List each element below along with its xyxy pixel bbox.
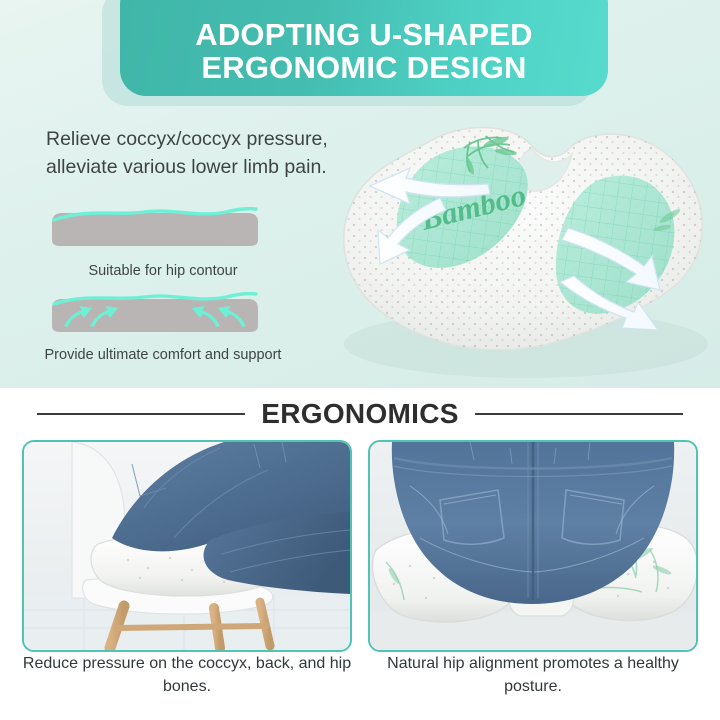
contour-diagram-2: Provide ultimate comfort and support [38, 282, 288, 366]
contour-diagram-1: Suitable for hip contour [38, 196, 288, 282]
cushion-cross-section-1 [48, 196, 262, 258]
product-cushion-image: Bamboo [318, 112, 720, 388]
photo-caption-right: Natural hip alignment promotes a healthy… [368, 652, 698, 698]
banner-title-line-1: ADOPTING U-SHAPED [195, 17, 533, 52]
divider-line-right [475, 413, 683, 415]
section-title: ERGONOMICS [261, 398, 458, 430]
photo-card-rear-view [368, 440, 698, 652]
top-section: ADOPTING U-SHAPED ERGONOMIC DESIGN Relie… [0, 0, 720, 388]
u-shaped-cushion-illustration: Bamboo [318, 112, 720, 388]
contour-diagram-2-caption: Provide ultimate comfort and support [38, 346, 288, 366]
photo-gallery [0, 440, 720, 660]
cushion-profile-icon [48, 196, 262, 258]
banner-title-line-2: ERGONOMIC DESIGN [195, 51, 533, 84]
section-header-ergonomics: ERGONOMICS [0, 392, 720, 436]
cushion-support-arrows-icon [48, 282, 262, 344]
contour-diagram-1-caption: Suitable for hip contour [38, 262, 288, 282]
banner-body: ADOPTING U-SHAPED ERGONOMIC DESIGN [120, 0, 608, 96]
lead-paragraph: Relieve coccyx/coccyx pressure, alleviat… [46, 126, 346, 181]
divider-line-left [37, 413, 245, 415]
photo-person-seated-side-view [24, 442, 350, 650]
cushion-cross-section-2 [48, 282, 262, 344]
photo-caption-left: Reduce pressure on the coccyx, back, and… [22, 652, 352, 698]
photo-card-side-view [22, 440, 352, 652]
header-banner: ADOPTING U-SHAPED ERGONOMIC DESIGN [112, 0, 608, 100]
photo-hips-on-cushion-rear-view [370, 442, 696, 650]
banner-title: ADOPTING U-SHAPED ERGONOMIC DESIGN [195, 18, 533, 84]
